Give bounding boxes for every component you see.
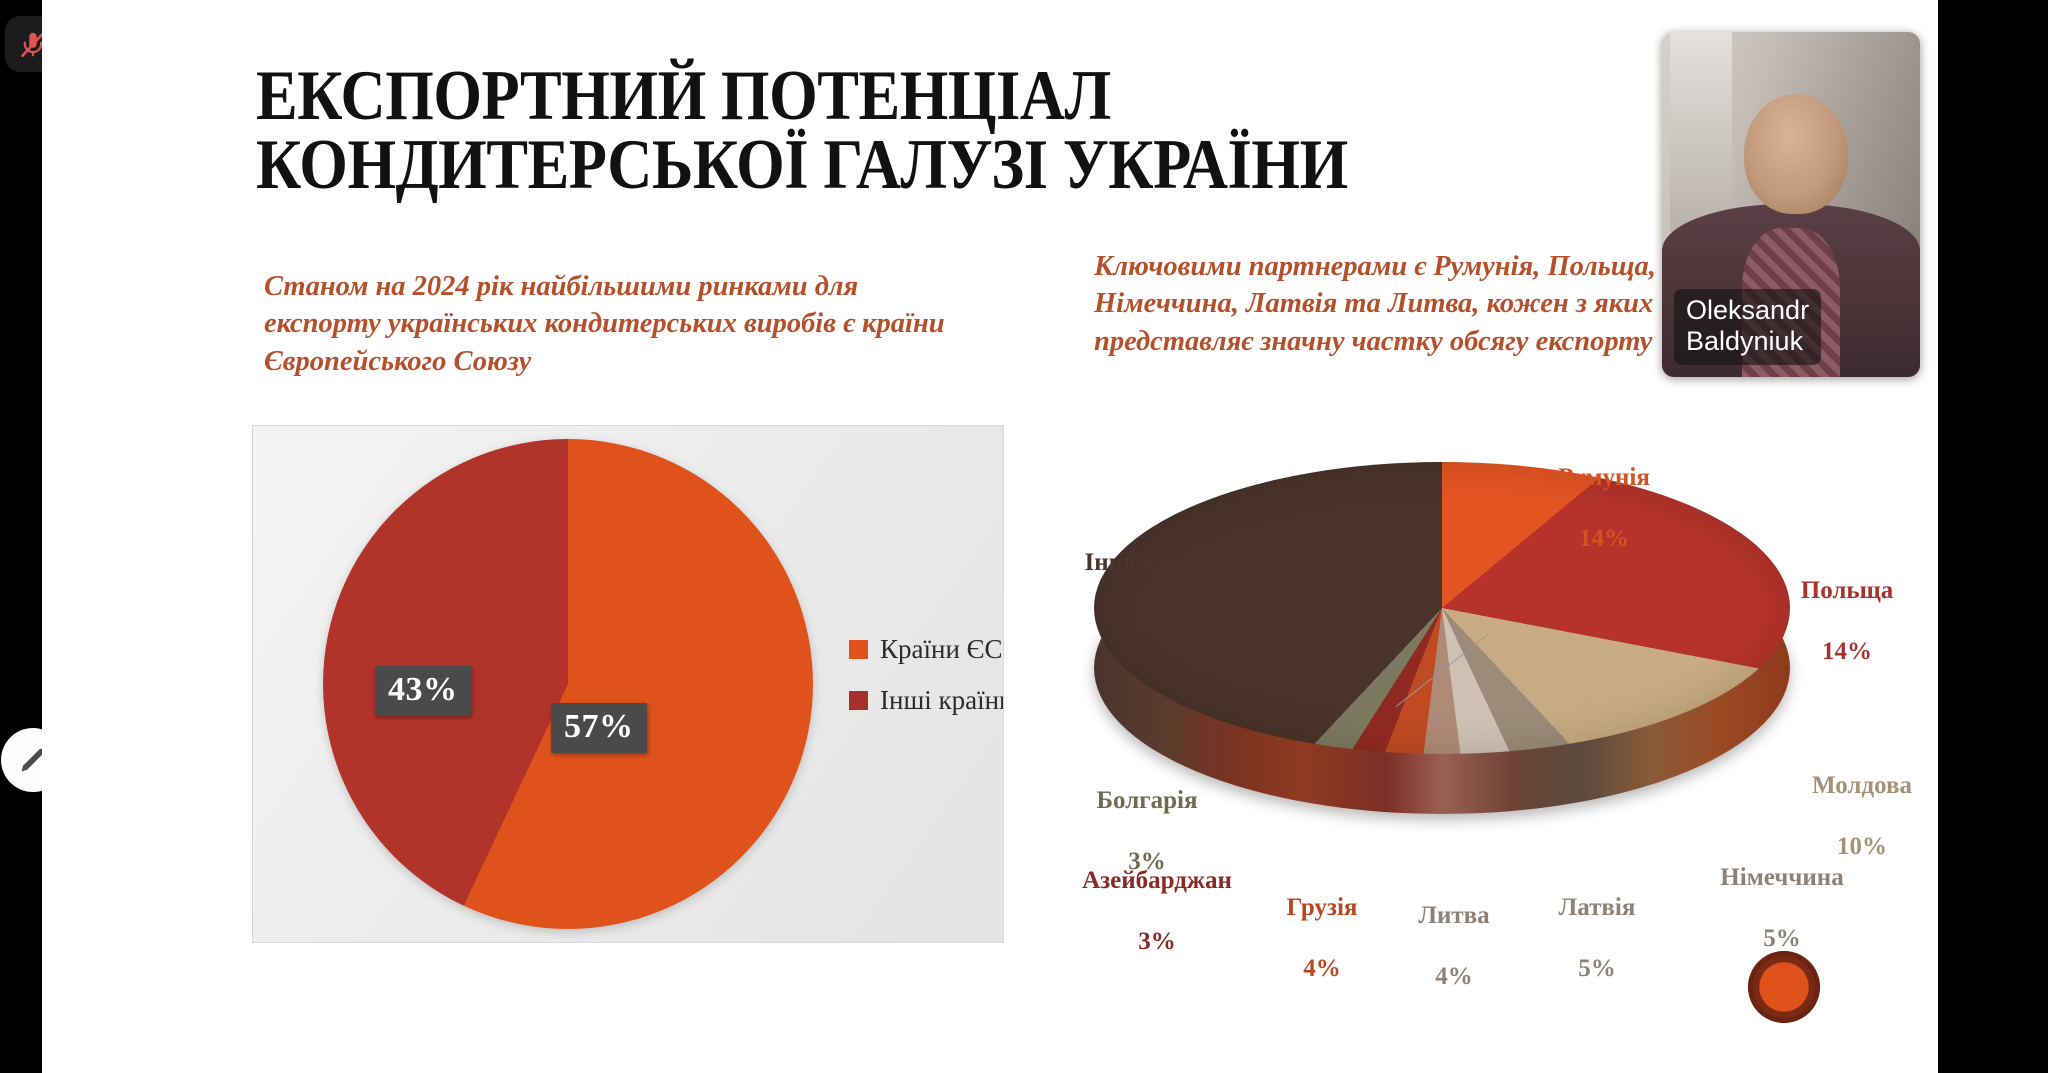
pie3d-label-latviia: Латвія 5% bbox=[1512, 862, 1682, 984]
pie-slice-label-eu: 57% bbox=[551, 703, 647, 753]
slide-title: ЕКСПОРТНИЙ ПОТЕНЦІАЛ КОНДИТЕРСЬКОЇ ГАЛУЗ… bbox=[256, 62, 1602, 200]
legend-item-other: Інші країни bbox=[849, 685, 1004, 716]
pie3d-label-inshi-krainy: Інші країни 38% bbox=[1042, 517, 1262, 639]
legend-item-eu: Країни ЄС bbox=[849, 634, 1004, 665]
legend-swatch-icon bbox=[849, 640, 868, 659]
legend-swatch-icon bbox=[849, 691, 868, 710]
legend-label: Інші країни bbox=[880, 685, 1004, 716]
pie3d-label-nimechchyna: Німеччина 5% bbox=[1682, 832, 1882, 954]
meeting-left-rail bbox=[0, 0, 42, 1073]
participant-face bbox=[1744, 94, 1848, 214]
pie3d-label-polshcha: Польща 14% bbox=[1742, 545, 1952, 667]
pie-slice-label-other: 43% bbox=[375, 666, 471, 716]
lead-paragraph-left: Станом на 2024 рік найбільшими ринками д… bbox=[264, 268, 954, 380]
video-background-detail bbox=[1670, 32, 1732, 232]
legend-label: Країни ЄС bbox=[880, 634, 1002, 665]
pie3d-label-rumunia: Румунія 14% bbox=[1504, 432, 1704, 554]
brand-emblem-icon bbox=[1748, 951, 1820, 1023]
participant-video-tile[interactable]: Oleksandr Baldyniuk bbox=[1662, 32, 1920, 377]
participant-name-label: Oleksandr Baldyniuk bbox=[1674, 289, 1821, 365]
legend: Країни ЄС Інші країни bbox=[849, 634, 1004, 736]
screen: ЕКСПОРТНИЙ ПОТЕНЦІАЛ КОНДИТЕРСЬКОЇ ГАЛУЗ… bbox=[0, 0, 2048, 1073]
pie3d-label-bolhariia: Болгарія 3% bbox=[1052, 755, 1242, 877]
chart-eu-vs-other: 43% 57% Країни ЄС Інші країни bbox=[252, 425, 1004, 943]
presentation-slide: ЕКСПОРТНИЙ ПОТЕНЦІАЛ КОНДИТЕРСЬКОЇ ГАЛУЗ… bbox=[42, 0, 1938, 1073]
